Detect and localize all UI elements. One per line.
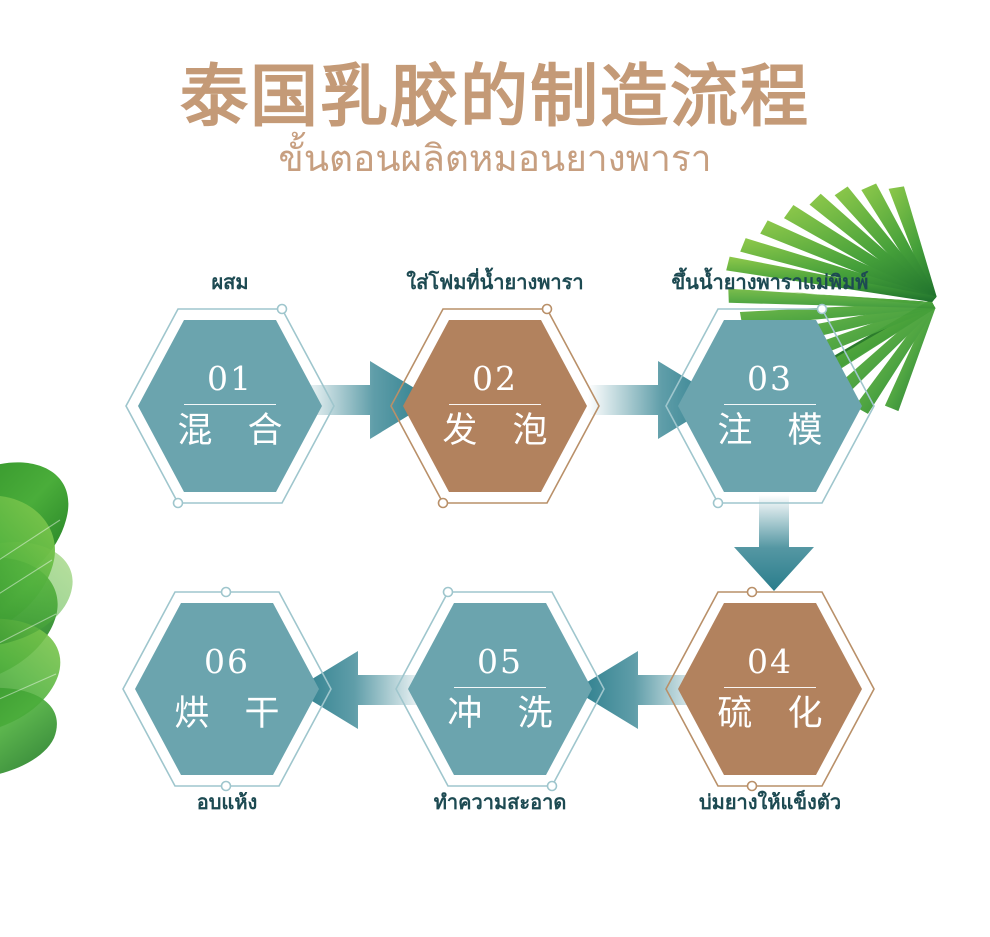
caption-step-01: ผสม [115,266,345,298]
header: 泰国乳胶的制造流程 ขั้นตอนผลิตหมอนยางพารา [0,62,990,180]
step-number: 06 [204,645,250,678]
step-node-06[interactable]: 06 烘 干 [112,578,342,800]
step-name: 发 泡 [430,412,559,451]
step-name: 混 合 [165,412,294,451]
step-node-05[interactable]: 05 冲 洗 [385,578,615,800]
step-node-04[interactable]: 04 硫 化 [655,578,885,800]
caption-step-04: บ่มยางให้แข็งตัว [645,786,895,818]
step-content-03: 03 注 模 [655,295,885,517]
step-name: 烘 干 [162,695,291,734]
step-node-02[interactable]: 02 发 泡 [380,295,610,517]
infographic-canvas: 泰国乳胶的制造流程 ขั้นตอนผลิตหมอนยางพารา [0,0,990,937]
step-divider [724,404,816,405]
step-divider [454,687,546,688]
caption-step-03: ขึ้นน้ำยางพาราแม่พิมพ์ [630,266,910,298]
step-name: 注 模 [705,412,834,451]
step-number: 02 [472,362,518,395]
caption-step-06: อบแห้ง [112,786,342,818]
step-content-02: 02 发 泡 [380,295,610,517]
step-number: 05 [477,645,523,678]
step-content-05: 05 冲 洗 [385,578,615,800]
step-number: 04 [747,645,793,678]
step-content-06: 06 烘 干 [112,578,342,800]
step-name: 硫 化 [705,695,834,734]
step-number: 03 [747,362,793,395]
caption-step-05: ทำความสะอาด [380,786,620,818]
step-divider [449,404,541,405]
step-content-04: 04 硫 化 [655,578,885,800]
banana-leaf-icon [0,462,73,778]
page-title: 泰国乳胶的制造流程 [0,62,990,133]
step-divider [724,687,816,688]
caption-step-02: ใส่โฟมที่น้ำยางพารา [365,266,625,298]
page-subtitle: ขั้นตอนผลิตหมอนยางพารา [0,139,990,180]
step-node-03[interactable]: 03 注 模 [655,295,885,517]
step-divider [181,687,273,688]
step-number: 01 [207,362,253,395]
step-content-01: 01 混 合 [115,295,345,517]
step-node-01[interactable]: 01 混 合 [115,295,345,517]
step-name: 冲 洗 [435,695,564,734]
step-divider [184,404,276,405]
